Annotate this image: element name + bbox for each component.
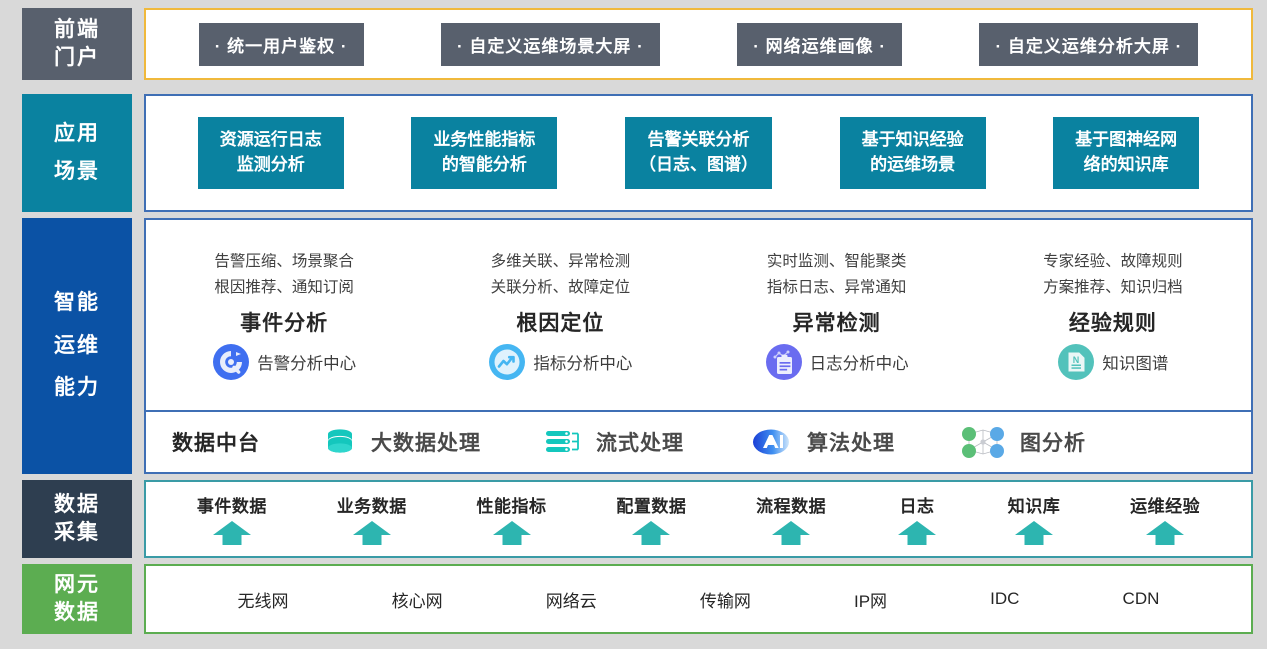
platform-item-big-data[interactable]: 大数据处理 xyxy=(320,425,481,459)
up-arrow-icon xyxy=(491,520,533,546)
metric-trend-icon xyxy=(488,343,526,381)
row-label-line: 网元 xyxy=(54,571,100,599)
capability-title: 根因定位 xyxy=(516,307,604,337)
application-scenario-chip[interactable]: 告警关联分析 （日志、图谱） xyxy=(625,117,772,188)
collection-item[interactable]: 配置数据 xyxy=(616,492,686,546)
platform-item-algorithm[interactable]: 算法处理 xyxy=(746,425,895,459)
capability-product-label: 指标分析中心 xyxy=(533,350,632,374)
capability-block[interactable]: 告警压缩、场景聚合 根因推荐、通知订阅 事件分析 xyxy=(146,220,422,410)
capability-title: 经验规则 xyxy=(1069,307,1157,337)
network-element-item[interactable]: 核心网 xyxy=(392,587,443,612)
row-label-aiops-capability: 智能 运维 能力 xyxy=(22,218,132,474)
network-element-item[interactable]: IP网 xyxy=(854,587,887,612)
chip-line: 基于图神经网 xyxy=(1067,128,1185,153)
platform-item-graph[interactable]: 图分析 xyxy=(957,424,1086,460)
row-label-data-collection: 数据 采集 xyxy=(22,480,132,558)
up-arrow-icon xyxy=(770,520,812,546)
network-element-item[interactable]: IDC xyxy=(990,589,1019,609)
graph-network-icon xyxy=(957,424,1009,460)
capability-keyword: 告警压缩、场景聚合 xyxy=(214,249,354,275)
aiops-capability-panel: 告警压缩、场景聚合 根因推荐、通知订阅 事件分析 xyxy=(144,218,1253,412)
row-application-scenarios: 应用 场景 资源运行日志 监测分析 业务性能指标 的智能分析 告警关联分析 （日… xyxy=(0,94,1253,212)
collection-item-label: 日志 xyxy=(899,492,934,517)
application-scenario-chip[interactable]: 业务性能指标 的智能分析 xyxy=(411,117,557,188)
row-label-line: 能力 xyxy=(54,374,100,402)
data-middle-platform-title: 数据中台 xyxy=(172,427,260,457)
capability-keyword: 多维关联、异常检测 xyxy=(491,249,631,275)
chip-line: 资源运行日志 xyxy=(212,128,330,153)
platform-item-label: 流式处理 xyxy=(596,427,684,457)
capability-product[interactable]: 告警分析中心 xyxy=(212,343,356,381)
row-data-collection: 数据 采集 事件数据 业务数据 性能指标 配置数据 流程数据 xyxy=(0,480,1253,558)
collection-item-label: 配置数据 xyxy=(616,492,686,517)
capability-product-label: 告警分析中心 xyxy=(257,350,356,374)
row-label-line: 运维 xyxy=(54,332,100,360)
portal-chip[interactable]: · 自定义运维分析大屏 · xyxy=(979,23,1198,66)
application-scenario-chip[interactable]: 基于知识经验 的运维场景 xyxy=(840,117,986,188)
data-middle-platform-panel: 数据中台 大数据处理 xyxy=(144,412,1253,474)
capability-keyword: 方案推荐、知识归档 xyxy=(1043,275,1183,301)
stream-flow-icon xyxy=(543,425,585,459)
collection-item-label: 业务数据 xyxy=(337,492,407,517)
capability-keyword: 实时监测、智能聚类 xyxy=(767,249,907,275)
network-element-item[interactable]: 无线网 xyxy=(238,587,289,612)
row-label-line: 采集 xyxy=(54,519,100,547)
row-label-line: 智能 xyxy=(54,289,100,317)
capability-title: 异常检测 xyxy=(793,307,881,337)
row-label-line: 场景 xyxy=(54,158,100,186)
platform-item-stream[interactable]: 流式处理 xyxy=(543,425,684,459)
collection-item[interactable]: 性能指标 xyxy=(477,492,547,546)
portal-chip[interactable]: · 自定义运维场景大屏 · xyxy=(441,23,660,66)
capability-block[interactable]: 实时监测、智能聚类 指标日志、异常通知 异常检测 xyxy=(699,220,975,410)
row-network-element-data: 网元 数据 无线网 核心网 网络云 传输网 IP网 IDC CDN xyxy=(0,564,1253,634)
ai-algorithm-icon xyxy=(746,425,796,459)
chip-line: 的智能分析 xyxy=(425,153,543,178)
collection-item-label: 事件数据 xyxy=(197,492,267,517)
up-arrow-icon xyxy=(1013,520,1055,546)
capability-product-label: 日志分析中心 xyxy=(810,350,909,374)
capability-block[interactable]: 多维关联、异常检测 关联分析、故障定位 根因定位 指标分析中心 xyxy=(422,220,698,410)
data-collection-panel: 事件数据 业务数据 性能指标 配置数据 流程数据 日志 xyxy=(144,480,1253,558)
knowledge-doc-icon: N xyxy=(1057,343,1095,381)
row-label-line: 数据 xyxy=(54,599,100,627)
capability-product[interactable]: 指标分析中心 xyxy=(488,343,632,381)
database-stack-icon xyxy=(320,425,360,459)
platform-item-label: 大数据处理 xyxy=(371,427,481,457)
up-arrow-icon xyxy=(896,520,938,546)
capability-block[interactable]: 专家经验、故障规则 方案推荐、知识归档 经验规则 N xyxy=(975,220,1251,410)
chip-line: 告警关联分析 xyxy=(639,128,758,153)
platform-item-label: 图分析 xyxy=(1020,427,1086,457)
chip-line: 络的知识库 xyxy=(1067,153,1185,178)
collection-item-label: 运维经验 xyxy=(1130,492,1200,517)
portal-chip[interactable]: · 统一用户鉴权 · xyxy=(199,23,364,66)
application-scenarios-panel: 资源运行日志 监测分析 业务性能指标 的智能分析 告警关联分析 （日志、图谱） … xyxy=(144,94,1253,212)
collection-item[interactable]: 业务数据 xyxy=(337,492,407,546)
platform-item-label: 算法处理 xyxy=(807,427,895,457)
log-clipboard-icon xyxy=(765,343,803,381)
capability-title: 事件分析 xyxy=(240,307,328,337)
up-arrow-icon xyxy=(351,520,393,546)
row-label-line: 数据 xyxy=(54,491,100,519)
network-element-item[interactable]: 网络云 xyxy=(546,587,597,612)
network-element-item[interactable]: CDN xyxy=(1123,589,1160,609)
collection-item-label: 性能指标 xyxy=(477,492,547,517)
chip-line: 监测分析 xyxy=(212,153,330,178)
capability-product[interactable]: 日志分析中心 xyxy=(765,343,909,381)
capability-keyword: 关联分析、故障定位 xyxy=(491,275,631,301)
row-label-line: 前端 xyxy=(54,16,100,44)
row-label-network-element-data: 网元 数据 xyxy=(22,564,132,634)
chip-line: 的运维场景 xyxy=(854,153,972,178)
up-arrow-icon xyxy=(1144,520,1186,546)
row-aiops-capability: 智能 运维 能力 告警压缩、场景聚合 根因推荐、通知订阅 事件分析 xyxy=(0,218,1253,474)
collection-item[interactable]: 运维经验 xyxy=(1130,492,1200,546)
capability-keyword: 指标日志、异常通知 xyxy=(767,275,907,301)
row-label-line: 门户 xyxy=(54,44,100,72)
capability-keyword: 专家经验、故障规则 xyxy=(1043,249,1183,275)
application-scenario-chip[interactable]: 基于图神经网 络的知识库 xyxy=(1053,117,1199,188)
svg-text:N: N xyxy=(1073,355,1080,365)
network-element-item[interactable]: 传输网 xyxy=(700,587,751,612)
capability-product[interactable]: N 知识图谱 xyxy=(1057,343,1168,381)
row-label-application-scenarios: 应用 场景 xyxy=(22,94,132,212)
collection-item-label: 知识库 xyxy=(1008,492,1061,517)
application-scenario-chip[interactable]: 资源运行日志 监测分析 xyxy=(198,117,344,188)
chip-line: 业务性能指标 xyxy=(425,128,543,153)
capability-keyword: 根因推荐、通知订阅 xyxy=(214,275,354,301)
row-label-line: 应用 xyxy=(54,120,100,148)
row-front-portal: 前端 门户 · 统一用户鉴权 · · 自定义运维场景大屏 · · 网络运维画像 … xyxy=(0,8,1253,80)
collection-item-label: 流程数据 xyxy=(756,492,826,517)
alert-radar-icon xyxy=(212,343,250,381)
aiops-architecture-diagram: 前端 门户 · 统一用户鉴权 · · 自定义运维场景大屏 · · 网络运维画像 … xyxy=(0,0,1267,649)
collection-item[interactable]: 事件数据 xyxy=(197,492,267,546)
row-label-front-portal: 前端 门户 xyxy=(22,8,132,80)
capability-product-label: 知识图谱 xyxy=(1102,350,1168,374)
portal-chip[interactable]: · 网络运维画像 · xyxy=(737,23,902,66)
chip-line: （日志、图谱） xyxy=(639,153,758,178)
front-portal-panel: · 统一用户鉴权 · · 自定义运维场景大屏 · · 网络运维画像 · · 自定… xyxy=(144,8,1253,80)
aiops-column: 告警压缩、场景聚合 根因推荐、通知订阅 事件分析 xyxy=(144,218,1253,474)
chip-line: 基于知识经验 xyxy=(854,128,972,153)
collection-item[interactable]: 知识库 xyxy=(1008,492,1061,546)
up-arrow-icon xyxy=(211,520,253,546)
network-element-panel: 无线网 核心网 网络云 传输网 IP网 IDC CDN xyxy=(144,564,1253,634)
collection-item[interactable]: 日志 xyxy=(896,492,938,546)
up-arrow-icon xyxy=(630,520,672,546)
collection-item[interactable]: 流程数据 xyxy=(756,492,826,546)
